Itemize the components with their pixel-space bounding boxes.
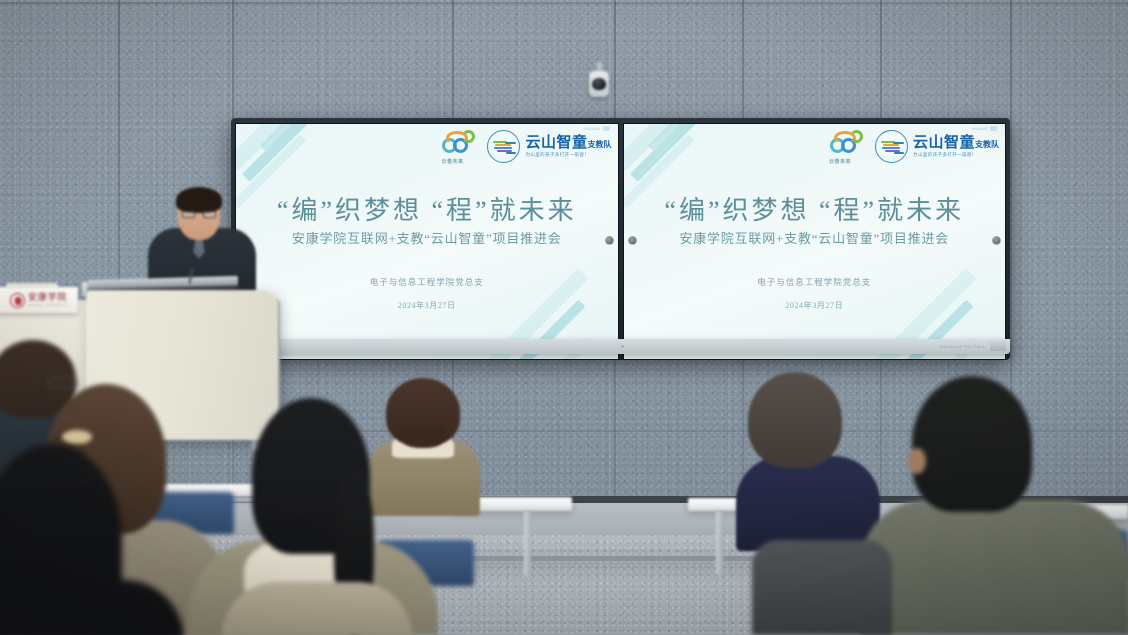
slide-organization: 电子与信息工程学院党总支 [624,276,1006,288]
cloud-logo-wordmark: 云善未来 [829,158,851,165]
bezel-sensor-right [605,236,614,245]
slide-logo-cluster: 云善未来 ANKANG 云山智童 [440,128,611,164]
slide-left[interactable]: 云善未来 ANKANG 云山智童 [236,124,618,359]
slide-title: “编”织梦想 “程”就未来 [624,190,1006,227]
presenter-hair [176,187,222,213]
slide-subtitle: 安康学院互联网+支教“云山智童”项目推进会 [236,228,618,247]
display-model-label: Interactive Flat Panel [940,344,986,349]
slide-title: “编”织梦想 “程”就未来 [236,190,618,227]
yunshan-zhitong-wordmark: ANKANG 云山智童支教队 为山里的孩子多打开一扇窗！ [525,135,611,158]
slide-date: 2024年3月27日 [624,300,1006,311]
yunshan-zhitong-wordmark: ANKANG 云山智童支教队 为山里的孩子多打开一扇窗！ [913,135,999,158]
brand-name: 云山智童 [913,134,975,151]
sign-bracket [6,283,58,288]
badge-artwork [881,140,904,155]
brand-name: 云山智童 [525,134,587,151]
slide-corner-tag: ANKANG [972,126,997,131]
slide-right[interactable]: 云善未来 ANKANG 云山智童 [624,124,1006,359]
desk-leg [716,511,723,575]
display-panel-right[interactable]: 云善未来 ANKANG 云山智童 [623,123,1007,360]
display-bottom-bezel: MAXHUB Interactive Flat Panel [231,339,1010,354]
ceiling-camera [589,62,609,104]
slide-subtitle: 安康学院互联网+支教“云山智童”项目推进会 [624,228,1006,247]
brand-tagline: 为山里的孩子多打开一扇窗！ [913,152,999,158]
slide-date: 2024年3月27日 [236,300,618,311]
power-indicator-icon [621,345,624,348]
bezel-sensor-left [628,236,637,245]
brand-suffix: 支教队 [975,140,999,149]
brand-suffix: 支教队 [588,140,612,149]
university-wall-sign: 安康学院 ANKANG UNIVERSITY [0,287,78,313]
yunshan-weilai-cloud-icon: 云善未来 [440,128,482,164]
university-name-en: ANKANG UNIVERSITY [28,303,69,307]
university-name: 安康学院 [28,293,69,302]
slide-logo-cluster: 云善未来 ANKANG 云山智童 [828,128,999,164]
hair-tie-icon [62,430,92,444]
conference-room-photo: 安康学院 ANKANG UNIVERSITY [0,0,1128,635]
badge-artwork [493,140,516,155]
brand-tagline: 为山里的孩子多打开一扇窗！ [525,152,611,158]
yunshan-zhitong-badge-icon [487,130,520,163]
slide-organization: 电子与信息工程学院党总支 [236,276,618,288]
display-panel-left[interactable]: 云善未来 ANKANG 云山智童 [235,123,619,360]
bezel-side-port [990,342,1006,351]
presenter-glasses-icon [182,211,216,218]
bezel-sensor-right [992,236,1001,245]
cloud-logo-wordmark: 云善未来 [441,158,463,165]
university-seal-icon [10,293,25,308]
yunshan-zhitong-badge-icon [875,130,908,163]
camera-lens-icon [592,78,606,90]
desk-leg [524,511,531,577]
slide-corner-tag: ANKANG [584,126,609,131]
interactive-flat-panel[interactable]: 云善未来 ANKANG 云山智童 [231,118,1010,360]
yunshan-weilai-cloud-icon: 云善未来 [828,128,870,164]
